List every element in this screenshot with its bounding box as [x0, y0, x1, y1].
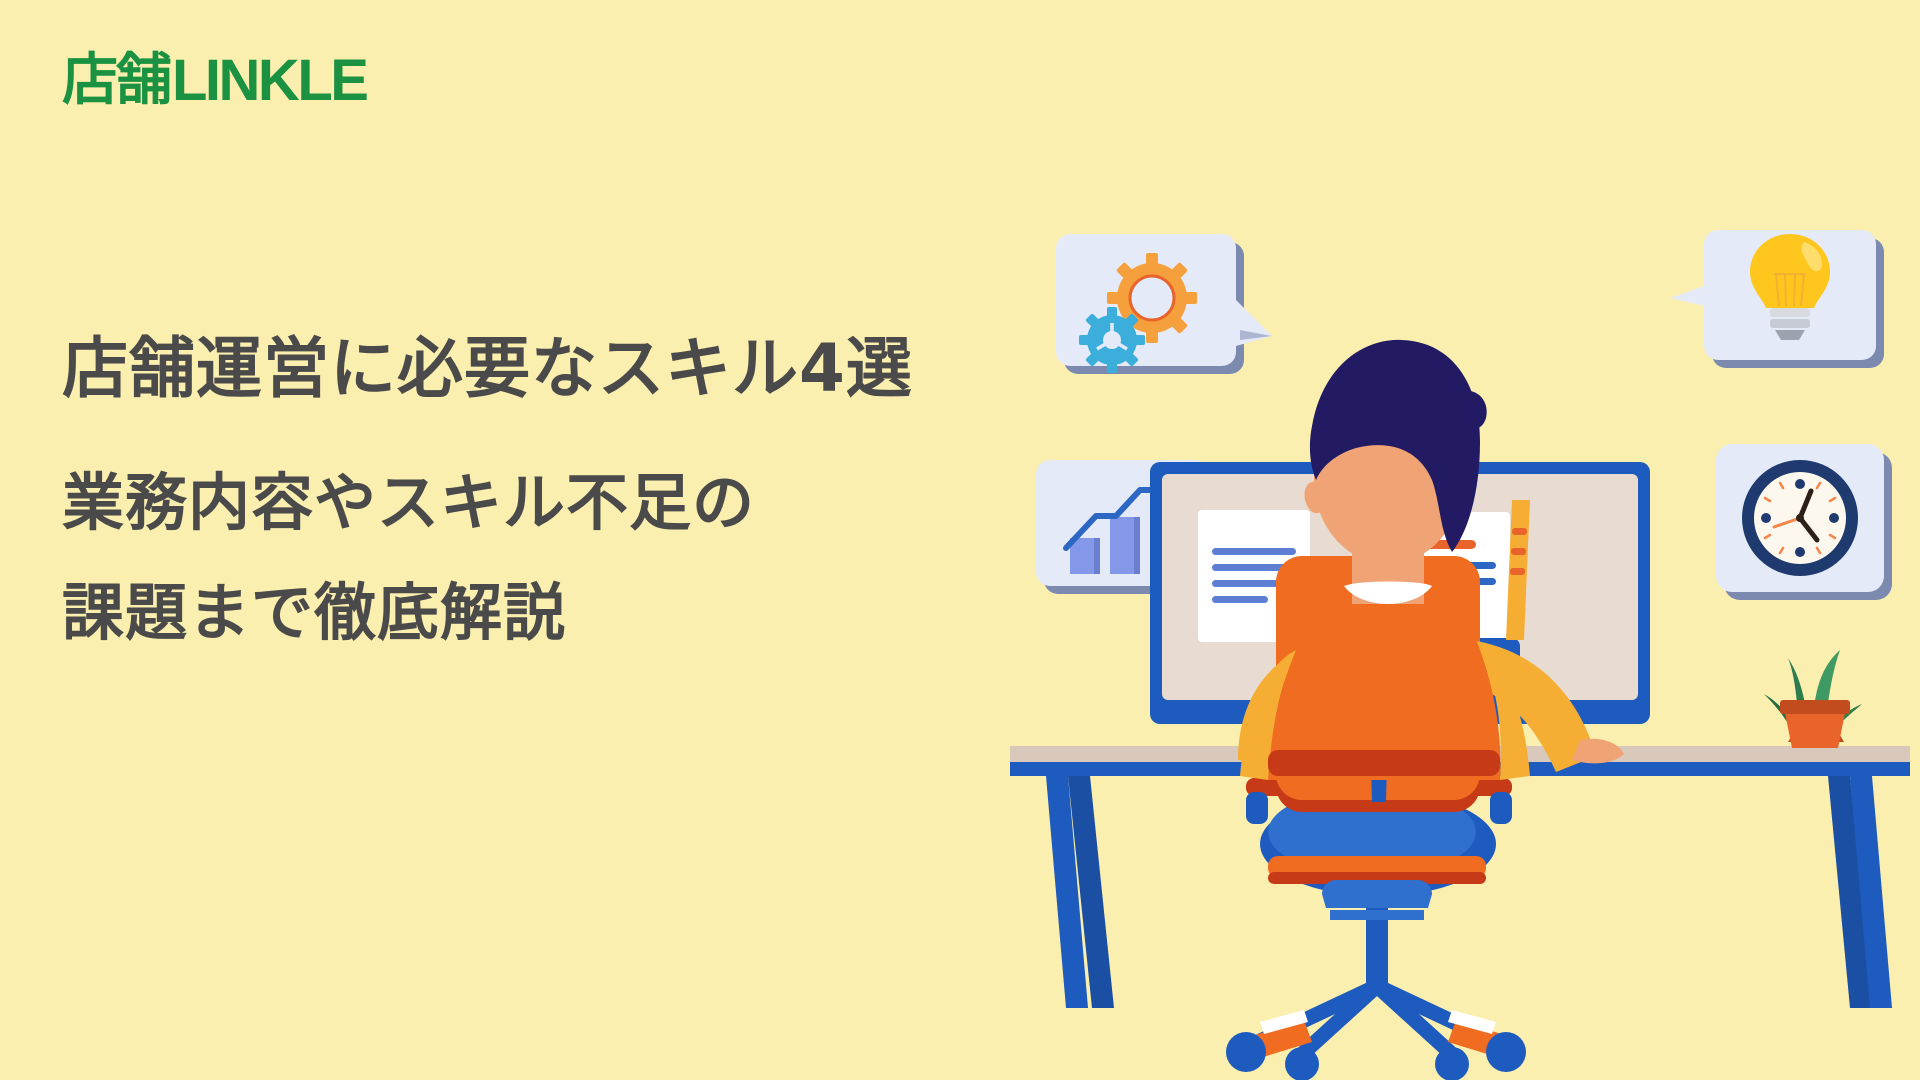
secondary-gear-icon	[1079, 307, 1145, 373]
gears-card	[1056, 234, 1272, 374]
headline-line-2: 業務内容やスキル不足の	[62, 472, 1142, 534]
page-title: 店舗運営に必要なスキル4選 業務内容やスキル不足の 課題まで徹底解説	[62, 336, 1142, 644]
clock-card	[1716, 444, 1892, 600]
hero-illustration	[1000, 180, 1920, 1080]
headline-line-1: 店舗運営に必要なスキル4選	[62, 336, 1142, 402]
lightbulb-card	[1670, 230, 1884, 368]
clock-icon	[1742, 460, 1858, 576]
logo-jp-text: 店舗	[62, 53, 170, 109]
logo-en-text: LINKLE	[172, 52, 366, 110]
plant	[1764, 650, 1862, 748]
headline-line-3: 課題まで徹底解説	[62, 582, 1142, 644]
site-logo[interactable]: 店舗 LINKLE	[62, 52, 366, 110]
